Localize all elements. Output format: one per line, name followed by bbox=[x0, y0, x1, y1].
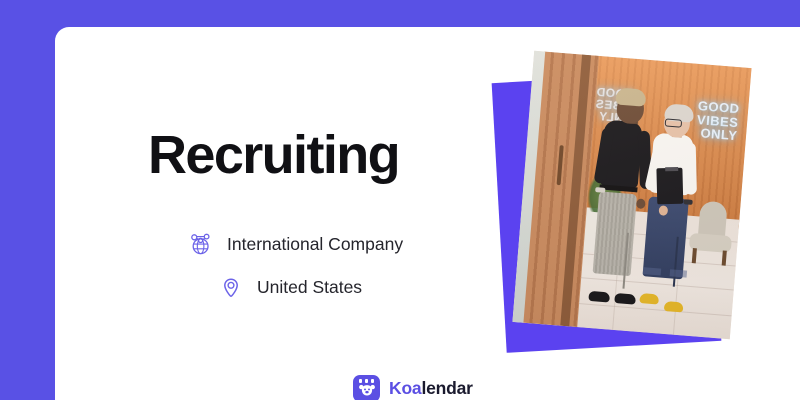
meta-label-company: International Company bbox=[227, 236, 403, 254]
global-network-icon bbox=[188, 232, 214, 258]
photo-composition: GOODVIBESONLY GOODVIBESONLY bbox=[395, 37, 715, 377]
koalendar-logo-icon bbox=[353, 375, 380, 400]
meta-label-location: United States bbox=[257, 279, 362, 297]
koalendar-brand-lockup[interactable]: Koalendar bbox=[353, 375, 473, 400]
page-title: Recruiting bbox=[148, 128, 399, 182]
koalendar-wordmark: Koalendar bbox=[389, 380, 473, 398]
brand-name-second: lendar bbox=[421, 378, 472, 398]
content-card: Recruiting International Company bbox=[55, 27, 800, 400]
hero-photo: GOODVIBESONLY GOODVIBESONLY bbox=[512, 51, 751, 340]
neon-sign-right: GOODVIBESONLY bbox=[695, 99, 740, 142]
location-pin-icon bbox=[218, 275, 244, 301]
meta-item-company: International Company bbox=[188, 232, 403, 258]
brand-name-first: Koa bbox=[389, 378, 421, 398]
meta-item-location: United States bbox=[218, 275, 362, 301]
lounge-chair bbox=[685, 200, 736, 267]
photo-scene: GOODVIBESONLY GOODVIBESONLY bbox=[512, 51, 751, 340]
booking-page-banner: Recruiting International Company bbox=[0, 0, 800, 400]
